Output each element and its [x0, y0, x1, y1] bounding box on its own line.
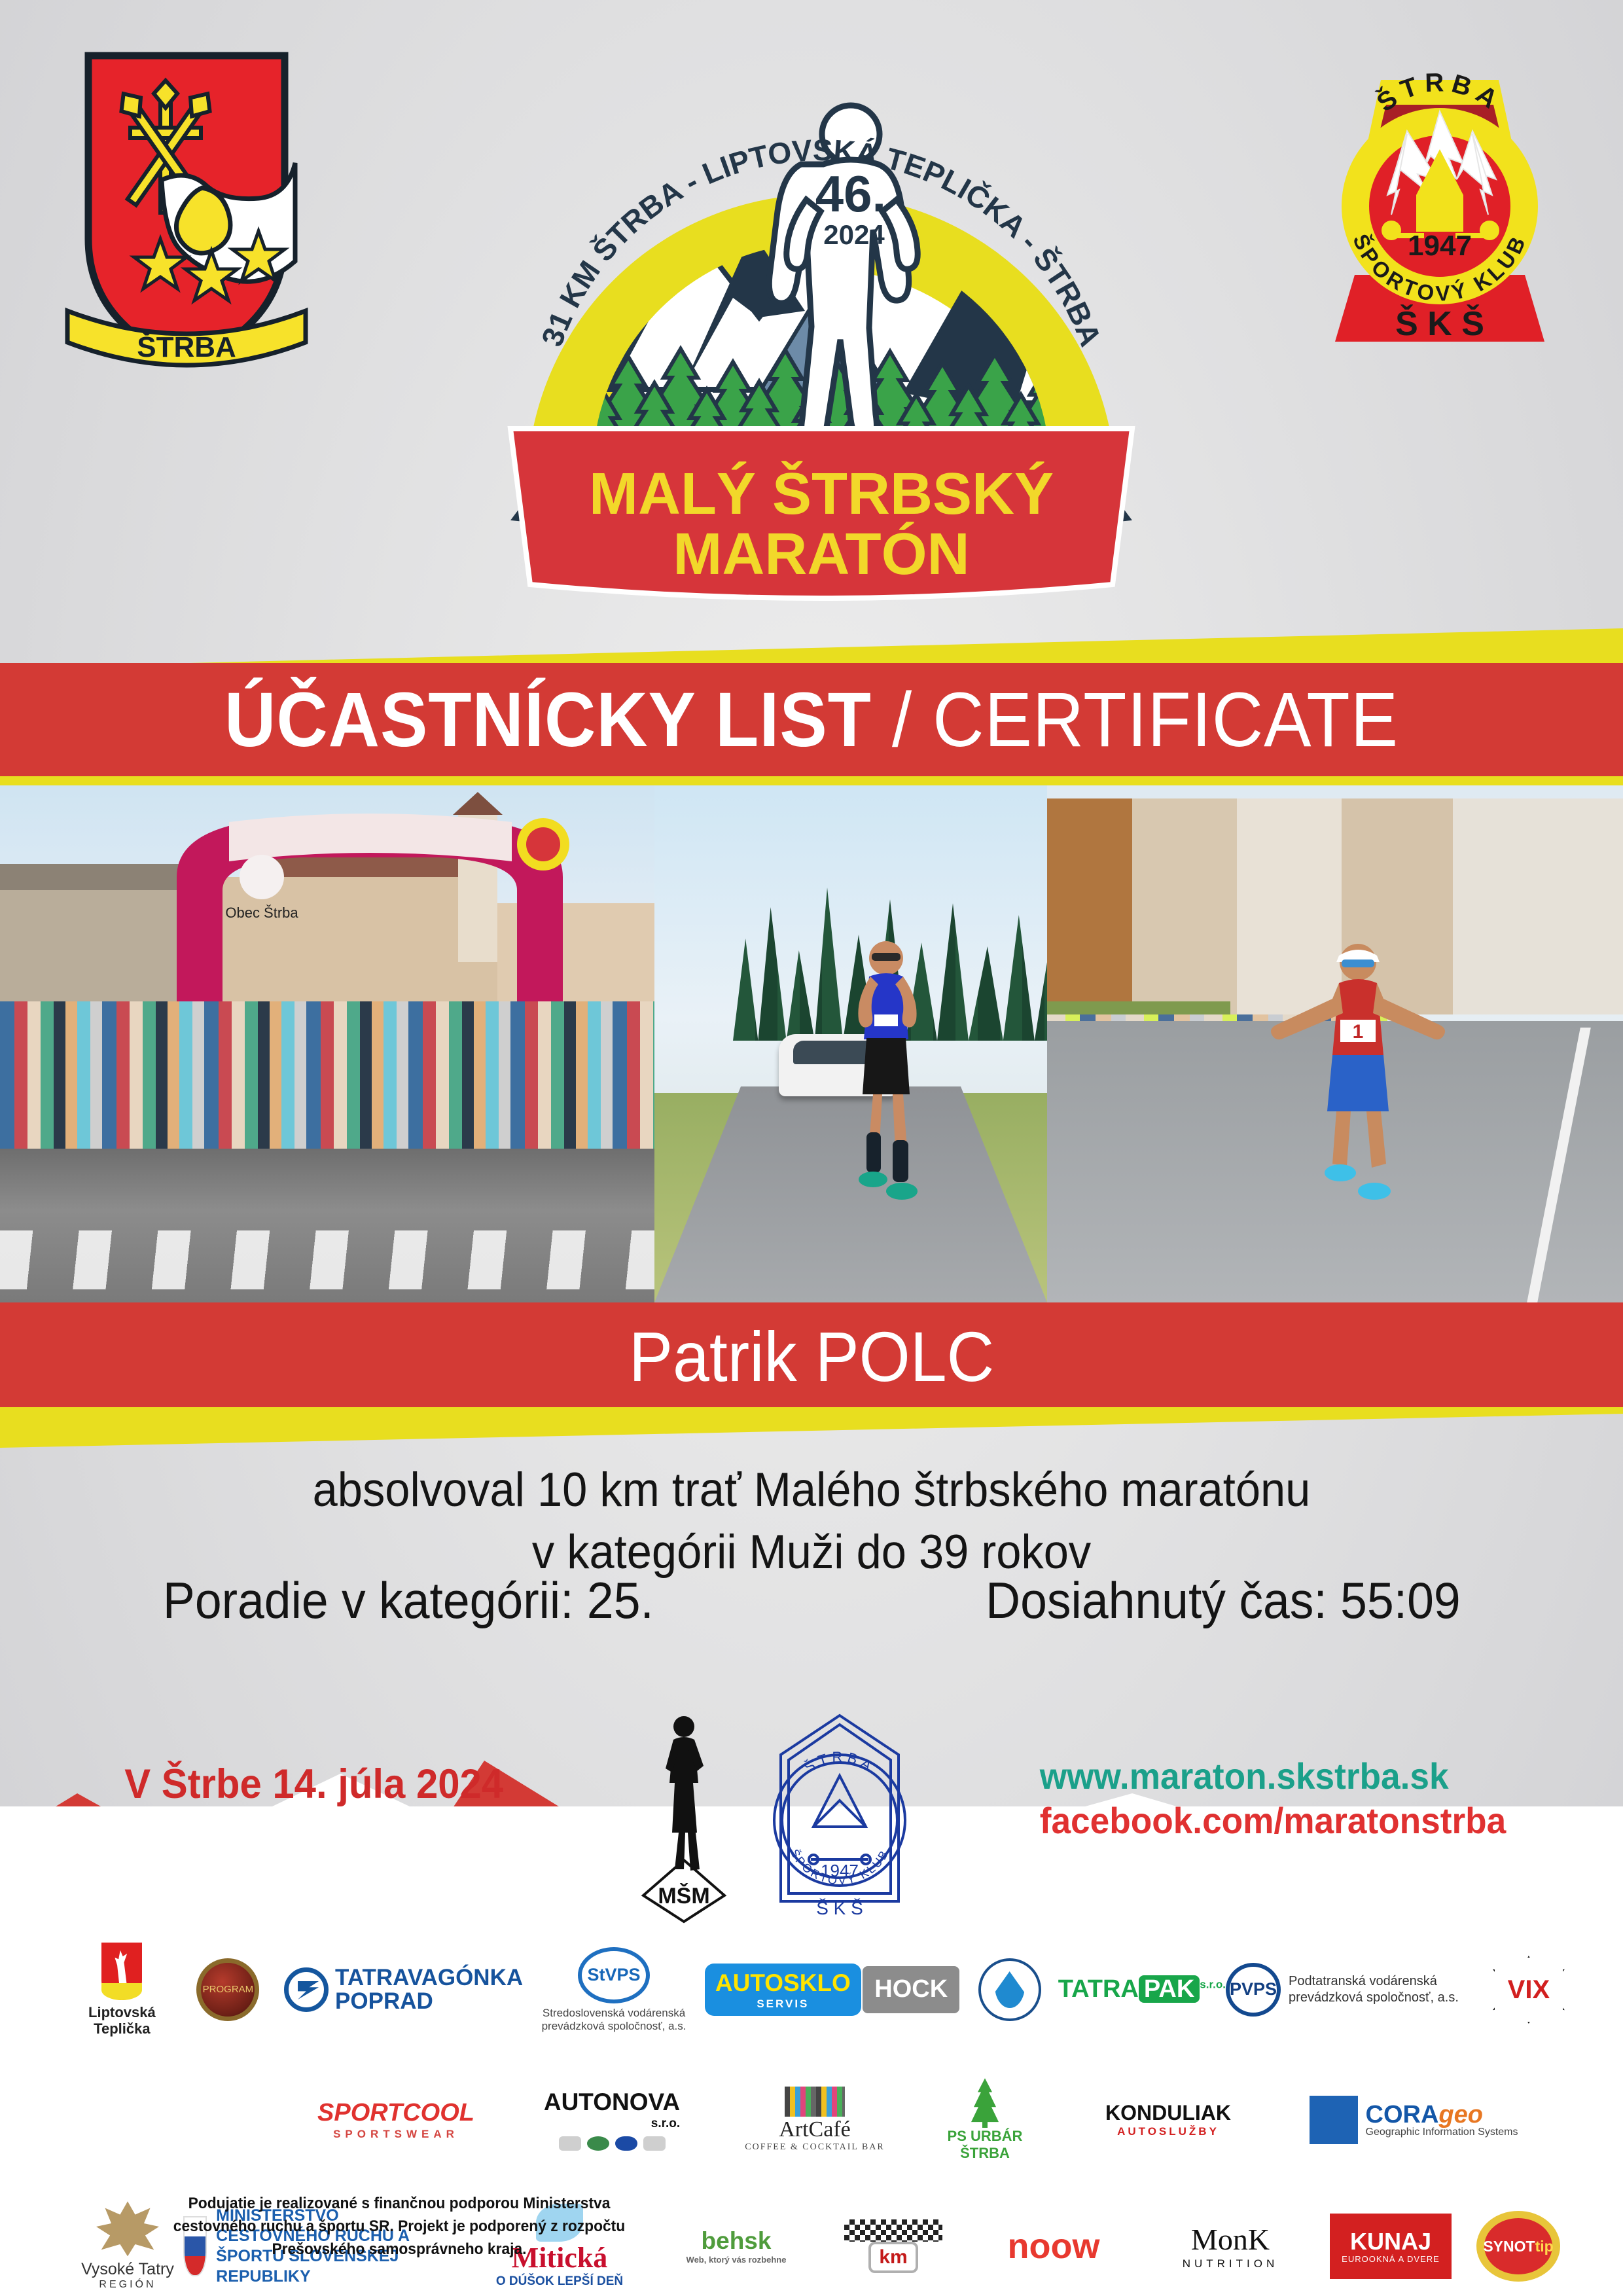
certificate-page: ŠTRBA: [0, 0, 1623, 2296]
logo-bib-number: 46.: [815, 165, 886, 223]
sponsor-label: km: [868, 2242, 918, 2274]
sponsor-label: noow: [1008, 2227, 1100, 2266]
category-rank: Poradie v kategórii: 25.: [163, 1571, 654, 1630]
sponsor-km-moto: km: [818, 2219, 969, 2274]
sponsor-ps-urbar-strba: PS URBÁRŠTRBA: [910, 2078, 1060, 2161]
msm-stamp-text: MŠM: [658, 1883, 709, 1909]
coat-of-arms-icon: [101, 1943, 142, 2000]
sponsor-tatrapak: TATRAPAKs.r.o.: [1058, 1975, 1226, 2004]
result-description: absolvoval 10 km trať Malého štrbského m…: [0, 1460, 1623, 1584]
sponsor-label2: EUROOKNÁ A DVERE: [1342, 2255, 1440, 2265]
sponsor-sportcool: SPORTCOOLSPORTSWEAR: [288, 2099, 504, 2140]
yellow-accent-top: [0, 628, 1623, 668]
finish-time: Dosiahnutý čas: 55:09: [986, 1571, 1461, 1630]
sponsor-label2: NUTRITION: [1183, 2257, 1279, 2270]
car-brand-row: [559, 2136, 666, 2151]
female-runner-figure: [844, 936, 929, 1211]
sks-stamp-abbrev: Š K Š: [816, 1898, 863, 1918]
logo-banner-line2: MARATÓN: [673, 521, 969, 587]
strba-municipal-coat-of-arms: ŠTRBA: [62, 49, 311, 376]
sponsor-label2: Teplička: [94, 2020, 150, 2037]
sponsor-label2: PAK: [1139, 1975, 1200, 2003]
category-rank-value: 25.: [587, 1571, 654, 1629]
athlete-name: Patrik POLC: [629, 1316, 994, 1397]
sponsor-label: HOCK: [874, 1975, 948, 2003]
sponsor-artcafe: ArtCaféCOFFEE & COCKTAIL BAR: [720, 2087, 910, 2153]
noow-icon: noow: [1008, 2226, 1100, 2267]
sportcool-icon: SPORTCOOLSPORTSWEAR: [317, 2099, 474, 2140]
water-oval-icon: StVPS: [578, 1947, 650, 2003]
sponsor-label: MonK: [1191, 2223, 1270, 2256]
finish-time-label: Dosiahnutý čas:: [986, 1571, 1327, 1629]
sks-club-emblem: 1947 ŠTRBA ŠPORTOVÝ KLUB Š K Š: [1309, 39, 1571, 360]
certificate-title-sk: ÚČASTNÍCKY LIST: [224, 677, 872, 763]
sponsor-label2: s.r.o.: [544, 2117, 680, 2131]
sponsor-label2: tip: [1535, 2238, 1554, 2255]
autonova-icon: AUTONOVAs.r.o.: [544, 2089, 680, 2130]
sponsor-label: PVPS: [1230, 1979, 1277, 2000]
sponsor-label: SYNOT: [1483, 2238, 1535, 2255]
sponsor-synottip: SYNOTtip: [1459, 2211, 1577, 2282]
sponsor-program-trencin: PROGRAM: [172, 1958, 284, 2021]
sponsor-label: PS URBÁR: [948, 2128, 1023, 2144]
sponsor-caption: Geographic Information Systems: [1366, 2127, 1518, 2138]
sponsor-label: KUNAJ: [1350, 2228, 1431, 2255]
running-man-icon: behskWeb, ktorý vás rozbehne: [687, 2227, 787, 2265]
coa-ribbon-text: ŠTRBA: [137, 330, 236, 363]
photo-road-runner: [654, 785, 1047, 1302]
pvps-icon: PVPS Podtatranská vodárenská prevádzková…: [1226, 1963, 1480, 2017]
photo-finisher: GABEL 1: [1047, 785, 1623, 1302]
tatravagonka-icon: TATRAVAGÓNKAPOPRAD: [284, 1966, 523, 2013]
sponsor-behsk: behskWeb, ktorý vás rozbehne: [654, 2227, 818, 2265]
sponsor-monk: MonKNUTRITION: [1139, 2223, 1322, 2270]
sponsor-label: Liptovská: [88, 2004, 156, 2020]
sponsor-label: CORA: [1366, 2101, 1439, 2128]
sponsor-label: Vysoké Tatry: [81, 2260, 174, 2278]
sponsor-label2: AUTOSLUŽBY: [1105, 2125, 1231, 2138]
sponsor-label2: SERVIS: [715, 1998, 851, 2011]
kunaj-icon: KUNAJEUROOKNÁ A DVERE: [1330, 2214, 1452, 2279]
sponsor-label: KONDULIAK: [1105, 2101, 1231, 2125]
sks-stamp-top-text: ŠTRBA: [801, 1749, 878, 1776]
male-finisher-figure: 1: [1263, 936, 1453, 1224]
sponsor-konduliak: KONDULIAKAUTOSLUŽBY: [1060, 2101, 1276, 2138]
msm-stamp-icon: MŠM: [618, 1708, 749, 1924]
sponsor-autosklo: AUTOSKLOSERVIS: [705, 1964, 861, 2016]
sponsor-pvps: PVPS Podtatranská vodárenská prevádzková…: [1226, 1963, 1480, 2017]
sponsor-label: StVPS: [588, 1965, 641, 1985]
tree-icon: [969, 2078, 1001, 2128]
finish-time-value: 55:09: [1340, 1571, 1460, 1629]
sponsor-label: PROGRAM: [203, 1984, 254, 1995]
sponsor-label: SPORTCOOL: [317, 2099, 474, 2126]
sponsor-label2: ŠTRBA: [960, 2145, 1010, 2161]
checkered-flags-icon: [844, 2219, 942, 2242]
sponsor-label: AUTONOVA: [544, 2089, 680, 2115]
tatrapak-icon: TATRAPAKs.r.o.: [1058, 1975, 1226, 2004]
sponsor-label: VIX: [1508, 1975, 1550, 2005]
sponsor-caption: Web, ktorý vás rozbehne: [687, 2255, 787, 2265]
sponsor-label2: POPRAD: [335, 1988, 433, 2014]
athlete-name-band: Patrik POLC: [0, 1302, 1623, 1410]
synot-oval-icon: SYNOTtip: [1476, 2211, 1560, 2282]
logo-banner-line1: MALÝ ŠTRBSKÝ: [589, 460, 1054, 527]
sponsor-caption: Stredoslovenská vodárenská prevádzková s…: [523, 2007, 705, 2032]
sponsor-label2: REGIÓN: [81, 2279, 174, 2291]
result-line-1: absolvoval 10 km trať Malého štrbského m…: [48, 1460, 1574, 1522]
sponsor-label2: COFFEE & COCKTAIL BAR: [745, 2142, 884, 2153]
malý-štrbský-maratón-logo: 46. 2024 31 KM ŠTRBA - LIPTOVSKÁ TEPLIČK…: [497, 36, 1145, 628]
sponsor-hock: HOCK: [861, 1966, 961, 2013]
sponsor-tatravagonka: TATRAVAGÓNKAPOPRAD: [284, 1966, 523, 2013]
sponsor-kunaj: KUNAJEUROOKNÁ A DVERE: [1322, 2214, 1459, 2279]
arch-label: Obec Štrba: [225, 905, 298, 921]
web-links[interactable]: www.maraton.skstrba.sk facebook.com/mara…: [1027, 1754, 1518, 1844]
yellow-accent-bottom: [0, 1407, 1623, 1450]
sponsor-label2: O DÚŠOK LEPŠÍ DEŇ: [496, 2274, 623, 2289]
sponsor-stvps: StVPS Stredoslovenská vodárenská prevádz…: [523, 1947, 705, 2032]
vix-star-icon: VIX: [1493, 1956, 1565, 2024]
sponsor-label: ArtCafé: [779, 2117, 851, 2142]
sponsor-row-2: SPORTCOOLSPORTSWEAR AUTONOVAs.r.o. ArtCa…: [72, 2059, 1577, 2180]
sponsor-sup: s.r.o.: [1200, 1979, 1226, 1991]
sponsor-row-1: LiptovskáTeplička PROGRAM TATRAVAGÓNKAPO…: [72, 1924, 1577, 2055]
artcafe-icon: [785, 2087, 845, 2117]
result-figures: Poradie v kategórii: 25. Dosiahnutý čas:…: [0, 1571, 1623, 1630]
finisher-bib: 1: [1353, 1021, 1364, 1043]
support-note: Podujatie je realizované s finančnou pod…: [163, 2193, 635, 2261]
monk-icon: MonKNUTRITION: [1183, 2223, 1279, 2270]
sks-stamp-icon: 1947 ŠTRBA ŠPORTOVÝ KLUB Š K Š: [762, 1705, 916, 1928]
sponsor-autonova: AUTONOVAs.r.o.: [504, 2089, 720, 2150]
edelweiss-icon: [96, 2201, 159, 2256]
sponsor-caption: Podtatranská vodárenská prevádzková spol…: [1289, 1973, 1480, 2006]
sponsor-vix: VIX: [1480, 1956, 1577, 2024]
certificate-title-band: ÚČASTNÍCKY LIST / CERTIFICATE: [0, 663, 1623, 776]
photo-mass-start: Obec Štrba: [0, 785, 654, 1302]
sponsor-corageo: CORAgeoGeographic Information Systems: [1276, 2096, 1551, 2144]
sponsor-label: AUTOSKLO: [715, 1969, 851, 1996]
sponsor-label: beh: [702, 2227, 745, 2254]
logo-bib-year: 2024: [823, 219, 885, 250]
sks-abbrev: Š K Š: [1395, 304, 1484, 343]
sponsor-label2: geo: [1438, 2101, 1483, 2128]
sponsor-pd-strba: [961, 1958, 1058, 2021]
hero-section: ŠTRBA: [0, 0, 1623, 645]
place-and-date: V Štrbe 14. júla 2024: [124, 1761, 503, 1808]
sponsor-liptovska-teplicka: LiptovskáTeplička: [72, 1943, 172, 2037]
sponsor-label2: SPORTSWEAR: [317, 2128, 474, 2141]
autosklo-icon: AUTOSKLOSERVIS: [705, 1964, 861, 2016]
seal-icon: PROGRAM: [196, 1958, 259, 2021]
sks-year: 1947: [1408, 230, 1472, 262]
sponsor-noow: noow: [969, 2226, 1139, 2267]
website-link[interactable]: www.maraton.skstrba.sk: [1040, 1754, 1506, 1799]
certificate-title-en: CERTIFICATE: [933, 677, 1399, 763]
facebook-link[interactable]: facebook.com/maratonstrba: [1040, 1799, 1506, 1843]
sponsor-label2: sk: [744, 2227, 771, 2254]
pd-seal-icon: [978, 1958, 1041, 2021]
corageo-grid-icon: [1310, 2096, 1358, 2144]
sponsor-label: TATRA: [1058, 1975, 1139, 2003]
hock-icon: HOCK: [863, 1966, 959, 2013]
sponsor-label: TATRAVAGÓNKA: [335, 1965, 523, 1990]
category-rank-label: Poradie v kategórii:: [163, 1571, 574, 1629]
car-icon: KONDULIAKAUTOSLUŽBY: [1105, 2101, 1231, 2138]
photo-strip: Obec Štrba: [0, 785, 1623, 1302]
certificate-title-separator: /: [892, 677, 912, 763]
